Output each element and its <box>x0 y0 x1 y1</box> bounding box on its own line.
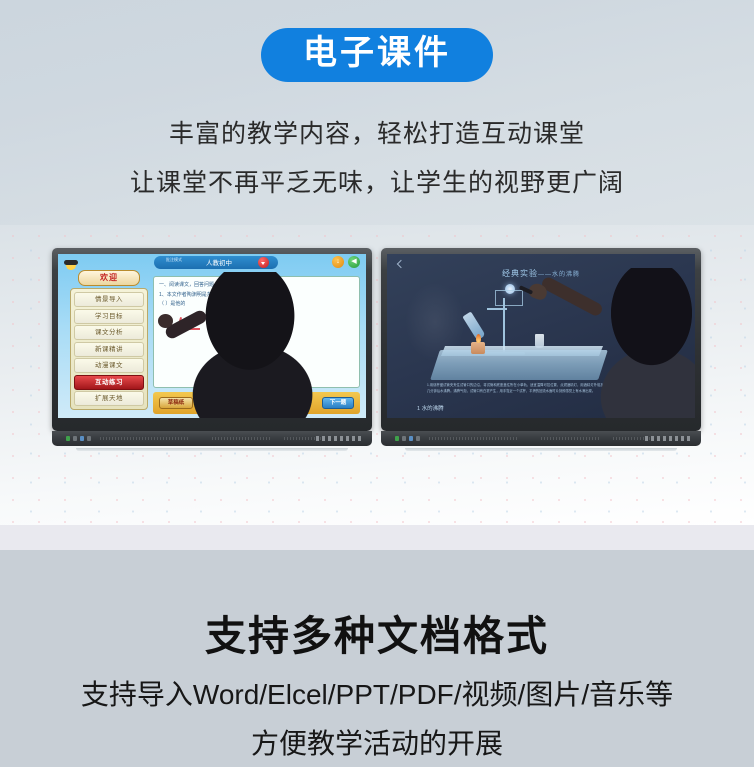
experiment-title-main: 经典实验 <box>502 269 538 278</box>
tablet-control-buttons-left[interactable] <box>66 436 91 441</box>
next-question-button[interactable]: 下一题 <box>322 397 354 409</box>
tablet-screen-left: 批注模式 人教初中 ↓ ◀ 欢迎 情景导入 学习目标 <box>58 254 366 418</box>
sidebar-item-extension[interactable]: 扩展天地 <box>74 391 144 406</box>
sidebar-item-analysis[interactable]: 课文分析 <box>74 325 144 340</box>
interactive-panel-left: 批注模式 人教初中 ↓ ◀ 欢迎 情景导入 学习目标 <box>52 248 372 450</box>
control-button[interactable] <box>402 436 406 441</box>
footer-title: 支持多种文档格式 <box>0 602 754 662</box>
control-button[interactable] <box>409 436 413 441</box>
test-tube <box>462 311 485 340</box>
beaker <box>535 334 544 348</box>
glass-plate <box>495 290 523 306</box>
document-formats-section: 支持多种文档格式 支持导入Word/Elcel/PPT/PDF/视频/图片/音乐… <box>0 550 754 767</box>
sidebar-item-lecture[interactable]: 新课精讲 <box>74 342 144 357</box>
control-button[interactable] <box>73 436 77 441</box>
speaker-grille <box>212 437 272 440</box>
power-led <box>395 436 399 441</box>
experiment-app: 经典实验——水的沸腾 1.用烧杯盛试管夹夹住试管口的边沿，将试管和底座盖住所在小… <box>387 254 695 418</box>
courseware-topbar: 批注模式 人教初中 ↓ ◀ <box>58 254 366 271</box>
sidebar-item-practice[interactable]: 互动练习 <box>74 375 144 390</box>
tablet-screen-right: 经典实验——水的沸腾 1.用烧杯盛试管夹夹住试管口的边沿，将试管和底座盖住所在小… <box>387 254 695 418</box>
control-button[interactable] <box>87 436 91 441</box>
product-photo-section: 批注模式 人教初中 ↓ ◀ 欢迎 情景导入 学习目标 <box>0 225 754 525</box>
tablet-bezel-left: 批注模式 人教初中 ↓ ◀ 欢迎 情景导入 学习目标 <box>52 248 372 431</box>
download-glyph: ↓ <box>332 256 344 268</box>
hero-tagline-2: 让课堂不再平乏无味，让学生的视野更广阔 <box>0 163 754 199</box>
textbook-version-label[interactable]: 人教初中 <box>206 257 232 267</box>
hero-badge: 电子课件 <box>261 28 493 82</box>
footer-subtitle-line-1: 支持导入Word/Elcel/PPT/PDF/视频/图片/音乐等 <box>0 673 754 713</box>
brand-dots <box>645 436 693 441</box>
tablet-stand-left <box>76 448 348 451</box>
footer-subtitle-line-2: 方便教学活动的开展 <box>0 722 754 762</box>
sound-icon[interactable]: ◀ <box>348 256 360 268</box>
student-silhouette-right <box>591 268 695 418</box>
speaker-grille <box>429 437 519 440</box>
alcohol-burner <box>471 342 485 354</box>
interactive-panel-right: 经典实验——水的沸腾 1.用烧杯盛试管夹夹住试管口的边沿，将试管和底座盖住所在小… <box>381 248 701 450</box>
student-silhouette-left <box>186 272 314 418</box>
hero-section: 电子课件 丰富的教学内容，轻松打造互动课堂 让课堂不再平乏无味，让学生的视野更广… <box>0 0 754 225</box>
tablet-chin-left <box>52 431 372 446</box>
sidebar-item-scenario[interactable]: 情景导入 <box>74 292 144 307</box>
speaker-grille <box>541 437 601 440</box>
download-icon[interactable]: ↓ <box>332 256 344 268</box>
experiment-description: 1.用烧杯盛试管夹夹住试管口的边沿，将试管和底座盖住所在小单轨，适宜温降可控位置… <box>427 382 607 395</box>
dropdown-toggle-icon[interactable] <box>258 257 269 268</box>
brand-dots <box>316 436 364 441</box>
section-divider-band <box>0 525 754 550</box>
hero-badge-wrapper: 电子课件 <box>0 28 754 82</box>
tablet-bezel-right: 经典实验——水的沸腾 1.用烧杯盛试管夹夹住试管口的边沿，将试管和底座盖住所在小… <box>381 248 701 431</box>
annotation-mode-label[interactable]: 批注模式 <box>166 257 182 263</box>
student-arm <box>540 275 604 317</box>
courseware-title-plaque: 欢迎 <box>78 270 140 286</box>
speaker-grille <box>100 437 190 440</box>
courseware-app: 批注模式 人教初中 ↓ ◀ 欢迎 情景导入 学习目标 <box>58 254 366 418</box>
experiment-title-sub: ——水的沸腾 <box>538 272 580 278</box>
control-button[interactable] <box>80 436 84 441</box>
student-hand <box>158 314 173 328</box>
tablet-control-buttons-right[interactable] <box>395 436 420 441</box>
hero-tagline-1: 丰富的教学内容，轻松打造互动课堂 <box>0 114 754 150</box>
tablet-chin-right <box>381 431 701 446</box>
experiment-footer-label: 1 水的沸腾 <box>417 404 444 412</box>
sidebar-item-animation[interactable]: 动漫课文 <box>74 358 144 373</box>
flame-icon <box>476 334 481 343</box>
courseware-sidebar-menu: 情景导入 学习目标 课文分析 新课精讲 动漫课文 互动练习 扩展天地 <box>70 288 148 410</box>
power-led <box>66 436 70 441</box>
tablet-stand-right <box>405 448 677 451</box>
control-button[interactable] <box>416 436 420 441</box>
lab-table <box>430 350 608 380</box>
sidebar-item-objectives[interactable]: 学习目标 <box>74 309 144 324</box>
ring-stand-clamp <box>487 308 507 310</box>
sound-glyph: ◀ <box>348 256 360 268</box>
